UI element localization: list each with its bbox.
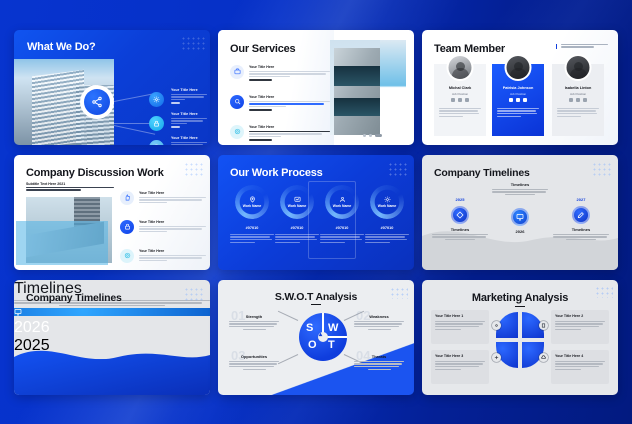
process-step[interactable]: Work Name #07010 — [275, 185, 319, 245]
timeline-icon-circle — [572, 206, 590, 224]
connector-line — [114, 123, 152, 124]
timeline-node-right[interactable]: 2027 Timelines — [553, 197, 609, 242]
slide-marketing-analysis[interactable]: Marketing Analysis — [422, 280, 618, 395]
lock-icon — [153, 120, 160, 127]
service-title: Your Title Here — [249, 65, 330, 69]
globe-icon — [153, 144, 160, 145]
slide-title: Company Discussion Work — [26, 167, 164, 179]
swot-ghost-number: 03 — [231, 348, 245, 363]
team-note — [556, 44, 608, 49]
feature-title: Your Title Here — [171, 136, 207, 140]
swot-wheel: S W O T — [299, 313, 347, 361]
member-bio — [497, 108, 539, 119]
slide-title: Our Work Process — [230, 167, 323, 179]
step-code: #07010 — [320, 226, 364, 230]
facebook-icon[interactable] — [509, 98, 513, 102]
slide-title: What We Do? — [27, 41, 95, 53]
cloud-icon — [539, 353, 548, 362]
swot-block-strength: 01 Strength — [229, 314, 279, 332]
process-step[interactable]: Work Name #07010 — [230, 185, 274, 245]
timeline-label: Timelines — [492, 182, 548, 187]
network-share-icon — [84, 89, 110, 115]
monitor-icon — [516, 213, 524, 221]
swot-ghost-number: 01 — [231, 308, 245, 323]
service-body — [249, 131, 330, 141]
feature-body — [171, 142, 207, 145]
discussion-row: Your Title Here — [120, 249, 206, 263]
step-code: #07010 — [365, 226, 409, 230]
card-title: Your Title Here 2 — [555, 314, 605, 318]
thumbs-up-icon — [120, 191, 134, 205]
node-2[interactable] — [149, 116, 164, 131]
service-title: Your Title Here — [249, 95, 330, 99]
swot-block-threats: 04 Threats — [354, 354, 404, 372]
slide-title: Company Timelines — [26, 292, 122, 304]
card-title: Your Title Here 1 — [435, 314, 485, 318]
card-title: Your Title Here 3 — [435, 354, 485, 358]
dot-pattern-decoration — [184, 287, 204, 301]
timeline-label: Timelines — [553, 227, 609, 232]
location-pin-icon — [249, 196, 256, 203]
swot-block-weakness: 02 Weakness — [354, 314, 404, 332]
avatar — [565, 54, 592, 81]
timeline-point[interactable]: Timelines — [492, 182, 548, 197]
discussion-row: Your Title Here — [120, 191, 206, 205]
social-links[interactable] — [434, 98, 486, 102]
avatar — [447, 54, 474, 81]
instagram-icon[interactable] — [583, 98, 587, 102]
member-role: Job Position — [552, 92, 604, 96]
lock-icon — [120, 220, 134, 234]
swot-block-opportunities: 03 Opportunities — [229, 354, 279, 372]
slide-company-timelines-wave[interactable]: Company Timelines Timelines — [14, 280, 210, 395]
target-icon — [120, 249, 134, 263]
step-body — [275, 234, 319, 243]
timeline-year: 2025 — [432, 197, 488, 202]
timeline-year: 2027 — [553, 197, 609, 202]
slide-title: Our Services — [230, 43, 295, 55]
center-hub — [80, 85, 114, 119]
analysis-card[interactable]: Your Title Here 1 — [431, 310, 489, 344]
swot-letter-o: O — [308, 339, 317, 351]
timeline-body — [432, 234, 488, 241]
service-body — [249, 101, 330, 111]
architecture-photo — [330, 40, 406, 135]
swot-ghost-number: 04 — [356, 348, 370, 363]
title-underline — [311, 304, 321, 306]
instagram-icon[interactable] — [465, 98, 469, 102]
briefcase-icon — [230, 65, 244, 79]
facebook-icon[interactable] — [569, 98, 573, 102]
analysis-card[interactable]: Your Title Here 2 — [551, 310, 609, 344]
service-body — [249, 71, 330, 81]
discussion-body — [139, 255, 206, 262]
swot-letter-t: T — [328, 339, 335, 351]
analysis-card[interactable]: Your Title Here 3 — [431, 350, 489, 384]
step-name: Work Name — [243, 204, 262, 208]
process-step[interactable]: Work Name #07010 — [365, 185, 409, 245]
feature-block: Your Title Here — [171, 112, 207, 129]
title-underline — [515, 306, 525, 308]
timeline-body — [492, 189, 548, 196]
slide-title: Team Member — [434, 43, 505, 55]
swot-ghost-number: 02 — [356, 308, 370, 323]
service-row: Your Title Here — [230, 125, 330, 142]
slide-company-discussion-work[interactable]: Company Discussion Work Subtitle Text He… — [14, 155, 210, 270]
slide-team-member[interactable]: Team Member Michal Clark Job Position — [422, 30, 618, 145]
process-step[interactable]: Work Name #07010 — [320, 185, 364, 245]
center-knob — [318, 332, 328, 342]
member-bio — [439, 108, 481, 119]
pagination-dot[interactable] — [369, 134, 372, 137]
gear-icon — [384, 196, 391, 203]
feature-title: Your Title Here — [171, 88, 207, 92]
step-code: #07010 — [275, 226, 319, 230]
discussion-title: Your Title Here — [139, 191, 206, 195]
service-row: Your Title Here — [230, 95, 330, 112]
timeline-icon-circle — [14, 308, 210, 316]
team-card[interactable]: Michal Clark Job Position — [434, 64, 486, 136]
network-icon — [492, 353, 501, 362]
feature-body — [171, 94, 207, 104]
carousel-pagination[interactable] — [363, 134, 382, 137]
discussion-row: Your Title Here — [120, 220, 206, 234]
analysis-card[interactable]: Your Title Here 4 — [551, 350, 609, 384]
discussion-body — [139, 197, 206, 204]
search-icon — [230, 95, 244, 109]
team-card[interactable]: Patrisia Johnson Job Position — [492, 64, 544, 136]
feature-block: Your Title Here — [171, 136, 207, 145]
timeline-year: 2026 — [492, 229, 548, 234]
slide-company-timelines-light[interactable]: Company Timelines Timelines 2026 — [422, 155, 618, 270]
spoke-line — [278, 354, 298, 364]
slide-title: S.W.O.T Analysis — [218, 291, 414, 303]
pagination-dot[interactable] — [363, 134, 366, 137]
dot-pattern-decoration — [592, 162, 612, 176]
timeline-icon-circle — [451, 206, 469, 224]
user-icon — [339, 196, 346, 203]
twitter-icon[interactable] — [516, 98, 520, 102]
slide-title: Company Timelines — [434, 167, 530, 179]
slide-subtitle: Subtitle Text Here 2021 — [26, 182, 65, 186]
dot-pattern-decoration — [388, 162, 408, 176]
slide-our-work-process[interactable]: Our Work Process Work Name #07010 — [218, 155, 414, 270]
photo-tint-overlay — [16, 221, 108, 265]
instagram-icon[interactable] — [523, 98, 527, 102]
slide-swot-analysis[interactable]: S.W.O.T Analysis S W O T 01 Strength — [218, 280, 414, 395]
step-body — [365, 234, 409, 243]
diamond-icon — [456, 211, 464, 219]
timeline-node-left[interactable]: 2025 Timelines — [432, 197, 488, 242]
member-name: Isabella Linton — [552, 86, 604, 90]
slide-our-services[interactable]: Our Services Your Title Here — [218, 30, 414, 145]
chart-icon — [294, 196, 301, 203]
timeline-label: Timelines — [432, 227, 488, 232]
gear-icon — [492, 321, 501, 330]
member-name: Patrisia Johnson — [492, 86, 544, 90]
service-row: Your Title Here — [230, 65, 330, 82]
monitor-icon — [14, 308, 210, 316]
service-title: Your Title Here — [249, 125, 330, 129]
discussion-body — [139, 226, 206, 233]
quad-circle-graphic — [496, 312, 544, 368]
step-body — [320, 234, 364, 243]
step-body — [230, 234, 274, 243]
discussion-title: Your Title Here — [139, 249, 206, 253]
timeline-body — [553, 234, 609, 241]
team-card[interactable]: Isabella Linton Job Position — [552, 64, 604, 136]
slide-subtitle-body — [26, 187, 114, 192]
step-code: #07010 — [230, 226, 274, 230]
step-name: Work Name — [288, 204, 307, 208]
swot-letter-s: S — [306, 322, 313, 334]
connector-line — [114, 93, 153, 102]
spoke-line — [278, 310, 298, 320]
social-links[interactable] — [492, 98, 544, 102]
avatar — [505, 54, 532, 81]
step-name: Work Name — [333, 204, 352, 208]
member-role: Job Position — [492, 92, 544, 96]
timeline-icon-circle — [511, 208, 529, 226]
node-1[interactable] — [149, 92, 164, 107]
slide-grid: What We Do? — [0, 0, 632, 424]
edit-icon — [577, 211, 585, 219]
dot-pattern-decoration — [181, 36, 205, 52]
target-icon — [230, 125, 244, 139]
card-title: Your Title Here 4 — [555, 354, 605, 358]
discussion-title: Your Title Here — [139, 220, 206, 224]
wave-divider — [14, 333, 210, 395]
member-role: Job Position — [434, 92, 486, 96]
member-bio — [557, 108, 599, 119]
feature-title: Your Title Here — [171, 112, 207, 116]
building-icon — [539, 321, 548, 330]
facebook-icon[interactable] — [451, 98, 455, 102]
swot-letter-w: W — [328, 322, 338, 334]
dot-pattern-decoration — [184, 162, 204, 176]
twitter-icon[interactable] — [576, 98, 580, 102]
node-3[interactable] — [149, 140, 164, 145]
feature-body — [171, 118, 207, 128]
timeline-node-middle[interactable]: 2026 — [492, 208, 548, 234]
twitter-icon[interactable] — [458, 98, 462, 102]
slide-title: Marketing Analysis — [422, 292, 618, 304]
pagination-dot-active[interactable] — [375, 134, 382, 137]
settings-gear-icon — [153, 96, 160, 103]
member-name: Michal Clark — [434, 86, 486, 90]
social-links[interactable] — [552, 98, 604, 102]
step-name: Work Name — [378, 204, 397, 208]
slide-what-we-do[interactable]: What We Do? — [14, 30, 210, 145]
feature-block: Your Title Here — [171, 88, 207, 105]
